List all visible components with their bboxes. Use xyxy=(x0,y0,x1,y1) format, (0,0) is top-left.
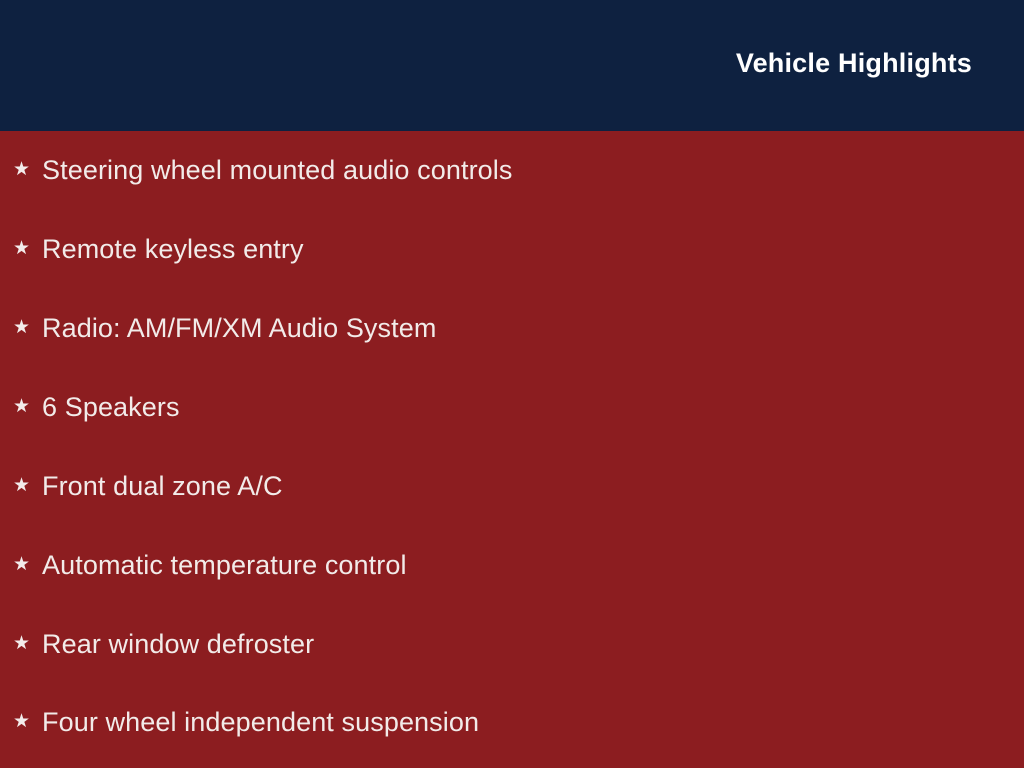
slide-header: Vehicle Highlights xyxy=(0,0,1024,131)
list-item-label: Remote keyless entry xyxy=(42,229,304,269)
list-item: ★ Four wheel independent suspension xyxy=(10,702,1010,742)
list-item-label: Automatic temperature control xyxy=(42,545,407,585)
star-icon: ★ xyxy=(10,702,42,742)
list-item-label: Radio: AM/FM/XM Audio System xyxy=(42,308,436,348)
list-item-label: Four wheel independent suspension xyxy=(42,702,479,742)
star-icon: ★ xyxy=(10,150,42,190)
star-icon: ★ xyxy=(10,387,42,427)
list-item-label: 6 Speakers xyxy=(42,387,180,427)
list-item: ★ Automatic temperature control xyxy=(10,545,1010,585)
list-item: ★ 6 Speakers xyxy=(10,387,1010,427)
list-item-label: Steering wheel mounted audio controls xyxy=(42,150,513,190)
star-icon: ★ xyxy=(10,466,42,506)
page-title: Vehicle Highlights xyxy=(736,47,972,79)
list-item: ★ Rear window defroster xyxy=(10,624,1010,664)
star-icon: ★ xyxy=(10,545,42,585)
vehicle-highlights-list: ★ Steering wheel mounted audio controls … xyxy=(0,131,1024,768)
list-item: ★ Steering wheel mounted audio controls xyxy=(10,150,1010,190)
list-item-label: Front dual zone A/C xyxy=(42,466,283,506)
star-icon: ★ xyxy=(10,308,42,348)
star-icon: ★ xyxy=(10,229,42,269)
list-item: ★ Remote keyless entry xyxy=(10,229,1010,269)
slide: Vehicle Highlights ★ Steering wheel moun… xyxy=(0,0,1024,768)
list-item: ★ Front dual zone A/C xyxy=(10,466,1010,506)
list-item: ★ Radio: AM/FM/XM Audio System xyxy=(10,308,1010,348)
list-item-label: Rear window defroster xyxy=(42,624,314,664)
star-icon: ★ xyxy=(10,624,42,664)
